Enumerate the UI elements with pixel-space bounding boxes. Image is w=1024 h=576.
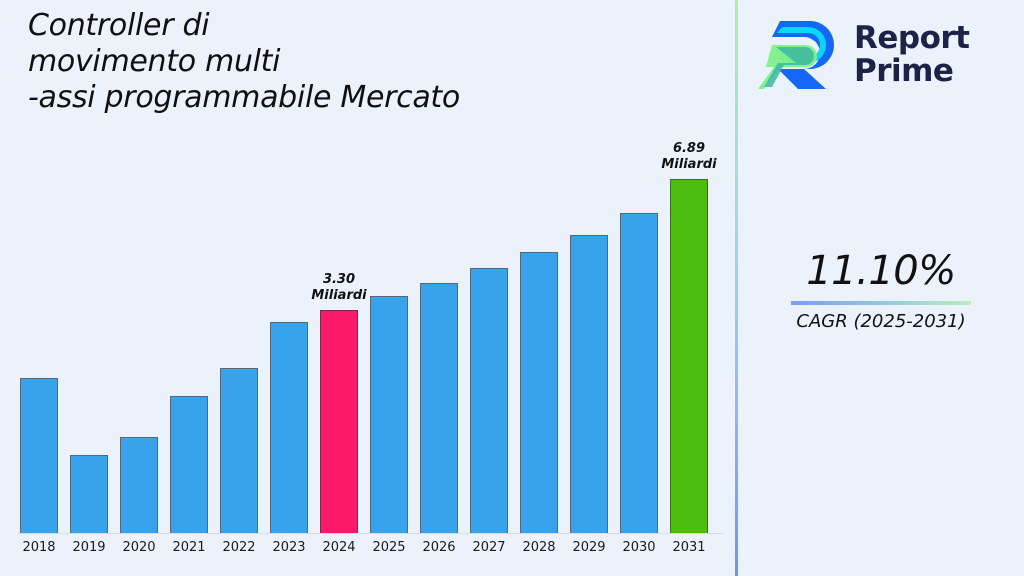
chart-panel: Controller di movimento multi -assi prog…	[0, 0, 736, 576]
x-axis-tick-2018: 2018	[14, 540, 64, 555]
x-axis-tick-2024: 2024	[314, 540, 364, 555]
brand-panel: Report Prime 11.10% CAGR (2025-2031)	[738, 0, 1024, 576]
x-axis-tick-2028: 2028	[514, 540, 564, 555]
x-axis-tick-2030: 2030	[614, 540, 664, 555]
report-prime-logo-icon	[758, 17, 842, 93]
x-axis-tick-2020: 2020	[114, 540, 164, 555]
bar-2025[interactable]	[370, 296, 408, 533]
bar-value-label-2031: 6.89 Miliardi	[644, 141, 734, 173]
x-axis-tick-2031: 2031	[664, 540, 714, 555]
bar-2024[interactable]	[320, 310, 358, 533]
bar-2023[interactable]	[270, 322, 308, 533]
x-axis-tick-2023: 2023	[264, 540, 314, 555]
brand-name-line2: Prime	[854, 53, 953, 89]
bar-2030[interactable]	[620, 213, 658, 533]
bar-2018[interactable]	[20, 378, 58, 533]
bar-2021[interactable]	[170, 396, 208, 533]
x-axis-tick-2026: 2026	[414, 540, 464, 555]
bar-2028[interactable]	[520, 252, 558, 533]
bar-2029[interactable]	[570, 235, 608, 533]
bar-2027[interactable]	[470, 268, 508, 533]
x-axis-tick-2027: 2027	[464, 540, 514, 555]
brand-wordmark: Report Prime	[854, 22, 970, 88]
x-axis-tick-2019: 2019	[64, 540, 114, 555]
x-axis-tick-2029: 2029	[564, 540, 614, 555]
cagr-block: 11.10% CAGR (2025-2031)	[738, 248, 1024, 333]
x-axis-line	[18, 533, 724, 534]
x-axis-tick-2025: 2025	[364, 540, 414, 555]
bar-chart-plot-area: 2018201920202021202220233.30 Miliardi202…	[0, 0, 736, 576]
cagr-divider-rule	[791, 301, 971, 305]
screenshot-root: Controller di movimento multi -assi prog…	[0, 0, 1024, 576]
brand-logo-block: Report Prime	[758, 12, 1008, 98]
bar-2019[interactable]	[70, 455, 108, 533]
x-axis-tick-2021: 2021	[164, 540, 214, 555]
bar-2031[interactable]	[670, 179, 708, 533]
bar-2020[interactable]	[120, 437, 158, 533]
cagr-caption: CAGR (2025-2031)	[738, 311, 1024, 333]
x-axis-tick-2022: 2022	[214, 540, 264, 555]
bar-2026[interactable]	[420, 283, 458, 533]
bar-2022[interactable]	[220, 368, 258, 533]
brand-name-line1: Report	[854, 20, 970, 56]
cagr-value: 11.10%	[738, 248, 1024, 294]
